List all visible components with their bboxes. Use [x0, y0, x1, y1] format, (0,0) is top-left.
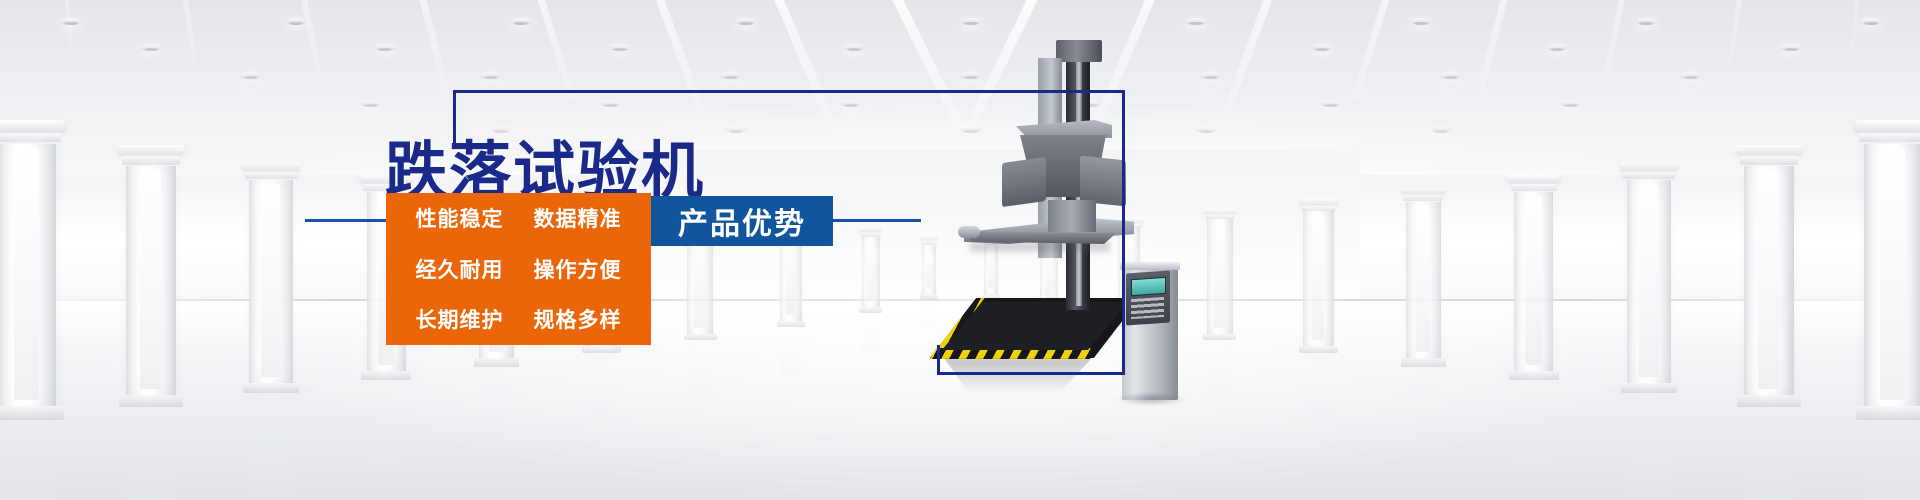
column-light-strip [1312, 215, 1325, 340]
column-floor-reflection [0, 420, 56, 500]
column-base [777, 321, 805, 327]
column-light-strip [140, 170, 161, 388]
column-base [0, 406, 64, 420]
column-floor-reflection [1406, 367, 1441, 448]
ceiling-spot-light [600, 100, 622, 107]
machine-mid-bracket [1048, 200, 1096, 232]
machine-cabinet-shadow [1116, 392, 1186, 406]
column-base [474, 358, 518, 366]
column-base [1401, 358, 1445, 366]
column-floor-reflection [586, 353, 616, 423]
column-base [243, 383, 300, 394]
column-floor-reflection [479, 367, 514, 448]
machine-control-buttons [1131, 297, 1164, 319]
ceiling-spot-light [1560, 100, 1582, 107]
column-base [361, 371, 411, 380]
machine-drop-table-pin [958, 226, 980, 238]
hall-column [249, 162, 293, 394]
frame-left-accent-line [305, 219, 387, 222]
ceiling-spot-light [609, 44, 631, 51]
column-light-strip [1639, 184, 1658, 376]
column-floor-reflection [1744, 407, 1794, 500]
column-floor-reflection [687, 340, 713, 399]
hall-column [126, 145, 176, 406]
column-floor-reflection [1627, 393, 1671, 497]
machine-mast-head [1056, 40, 1102, 62]
column-floor-reflection [1864, 420, 1920, 500]
column-floor-reflection [126, 407, 176, 500]
column-capital [1736, 145, 1802, 155]
ceiling-spot-light [1320, 100, 1342, 107]
product-banner: 跌落试验机 性能稳定 数据精准 经久耐用 操作方便 长期维护 规格多样 产品优势 [0, 0, 1920, 500]
hall-column [1303, 198, 1333, 353]
feature-list-box: 性能稳定 数据精准 经久耐用 操作方便 长期维护 规格多样 [386, 193, 651, 345]
column-capital-ring [1740, 156, 1798, 165]
ceiling-spot-light [1410, 18, 1432, 25]
feature-row: 性能稳定 数据精准 [386, 193, 651, 244]
column-capital-ring [245, 172, 296, 180]
ceiling-spot-light [510, 18, 532, 25]
column-base [1737, 395, 1801, 407]
product-advantage-badge-label: 产品优势 [678, 199, 806, 243]
ceiling-spot-light [140, 44, 162, 51]
column-capital-ring [122, 156, 180, 165]
column-floor-reflection [1303, 353, 1333, 423]
feature-item: 数据精准 [519, 203, 637, 233]
column-capital [1855, 120, 1920, 132]
ceiling-spot-light [1860, 18, 1882, 25]
frame-top-horizontal [453, 90, 1125, 93]
feature-item: 长期维护 [401, 304, 519, 334]
column-floor-reflection [780, 327, 802, 376]
feature-item: 经久耐用 [401, 254, 519, 284]
column-capital [1508, 175, 1560, 183]
column-capital [242, 162, 301, 171]
frame-bottom-left-vertical [937, 345, 940, 375]
feature-row: 经久耐用 操作方便 [386, 244, 651, 295]
ceiling-spot-light [720, 72, 742, 79]
ceiling-spot-light [1430, 126, 1452, 133]
column-capital [0, 120, 65, 132]
column-light-strip [261, 184, 280, 376]
ceiling-spot-light [843, 44, 865, 51]
hall-column [1406, 188, 1441, 367]
machine-upper-clamp-left [1002, 157, 1046, 207]
ceiling-spot-light [1440, 72, 1462, 79]
column-light-strip [1525, 196, 1542, 365]
hall-column [0, 120, 56, 420]
column-floor-reflection [367, 380, 406, 472]
column-capital [1401, 188, 1447, 195]
frame-bottom-horizontal [937, 372, 1125, 375]
ceiling-spot-light [725, 126, 747, 133]
column-light-strip [1416, 206, 1431, 352]
ceiling-spot-light [735, 18, 757, 25]
feature-item: 规格多样 [519, 304, 637, 334]
hall-column [1514, 175, 1553, 380]
column-floor-reflection [249, 393, 293, 497]
column-light-strip [1880, 148, 1904, 400]
column-capital-ring [1623, 172, 1674, 180]
ceiling-spot-light [240, 72, 262, 79]
column-light-strip [1758, 170, 1779, 388]
machine-control-cabinet-top [1120, 262, 1180, 270]
feature-item: 性能稳定 [401, 203, 519, 233]
column-capital-ring [1403, 195, 1443, 201]
ceiling-spot-light [1546, 44, 1568, 51]
product-advantage-badge: 产品优势 [651, 196, 833, 246]
ceiling-spot-light [1185, 18, 1207, 25]
hall-column [1864, 120, 1920, 420]
column-base [119, 395, 183, 407]
column-capital [1299, 198, 1339, 204]
machine-drop-table-shadow [970, 243, 1110, 255]
ceiling-spot-light [840, 100, 862, 107]
column-capital-ring [1859, 133, 1920, 143]
column-base [1621, 383, 1678, 394]
ceiling-spot-light [60, 18, 82, 25]
hall-column [1627, 162, 1671, 394]
hall-column [1744, 145, 1794, 406]
column-floor-reflection [862, 313, 880, 352]
ceiling-spot-light [1635, 18, 1657, 25]
feature-item: 操作方便 [519, 254, 637, 284]
column-capital [118, 145, 184, 155]
column-capital-ring [1301, 206, 1336, 211]
column-capital [1620, 162, 1679, 171]
ceiling-spot-light [960, 18, 982, 25]
hall-column [862, 227, 880, 314]
machine-control-display-screen [1131, 277, 1166, 296]
column-light-strip [14, 148, 38, 400]
ceiling-spot-light [1780, 44, 1802, 51]
column-capital-ring [0, 133, 61, 143]
column-floor-reflection [1514, 380, 1553, 472]
frame-right-accent-line [833, 219, 921, 222]
column-base [1856, 406, 1920, 420]
machine-upper-clamp-right [1080, 156, 1126, 207]
column-base [1509, 371, 1559, 380]
ceiling-spot-light [1680, 72, 1702, 79]
column-light-strip [867, 241, 875, 301]
frame-right-vertical [1122, 90, 1125, 375]
ceiling-spot-light [360, 100, 382, 107]
feature-row: 长期维护 规格多样 [386, 294, 651, 345]
ceiling-spot-light [480, 72, 502, 79]
column-capital-ring [1511, 184, 1557, 191]
ceiling-spot-light [285, 18, 307, 25]
column-capital [859, 227, 883, 232]
